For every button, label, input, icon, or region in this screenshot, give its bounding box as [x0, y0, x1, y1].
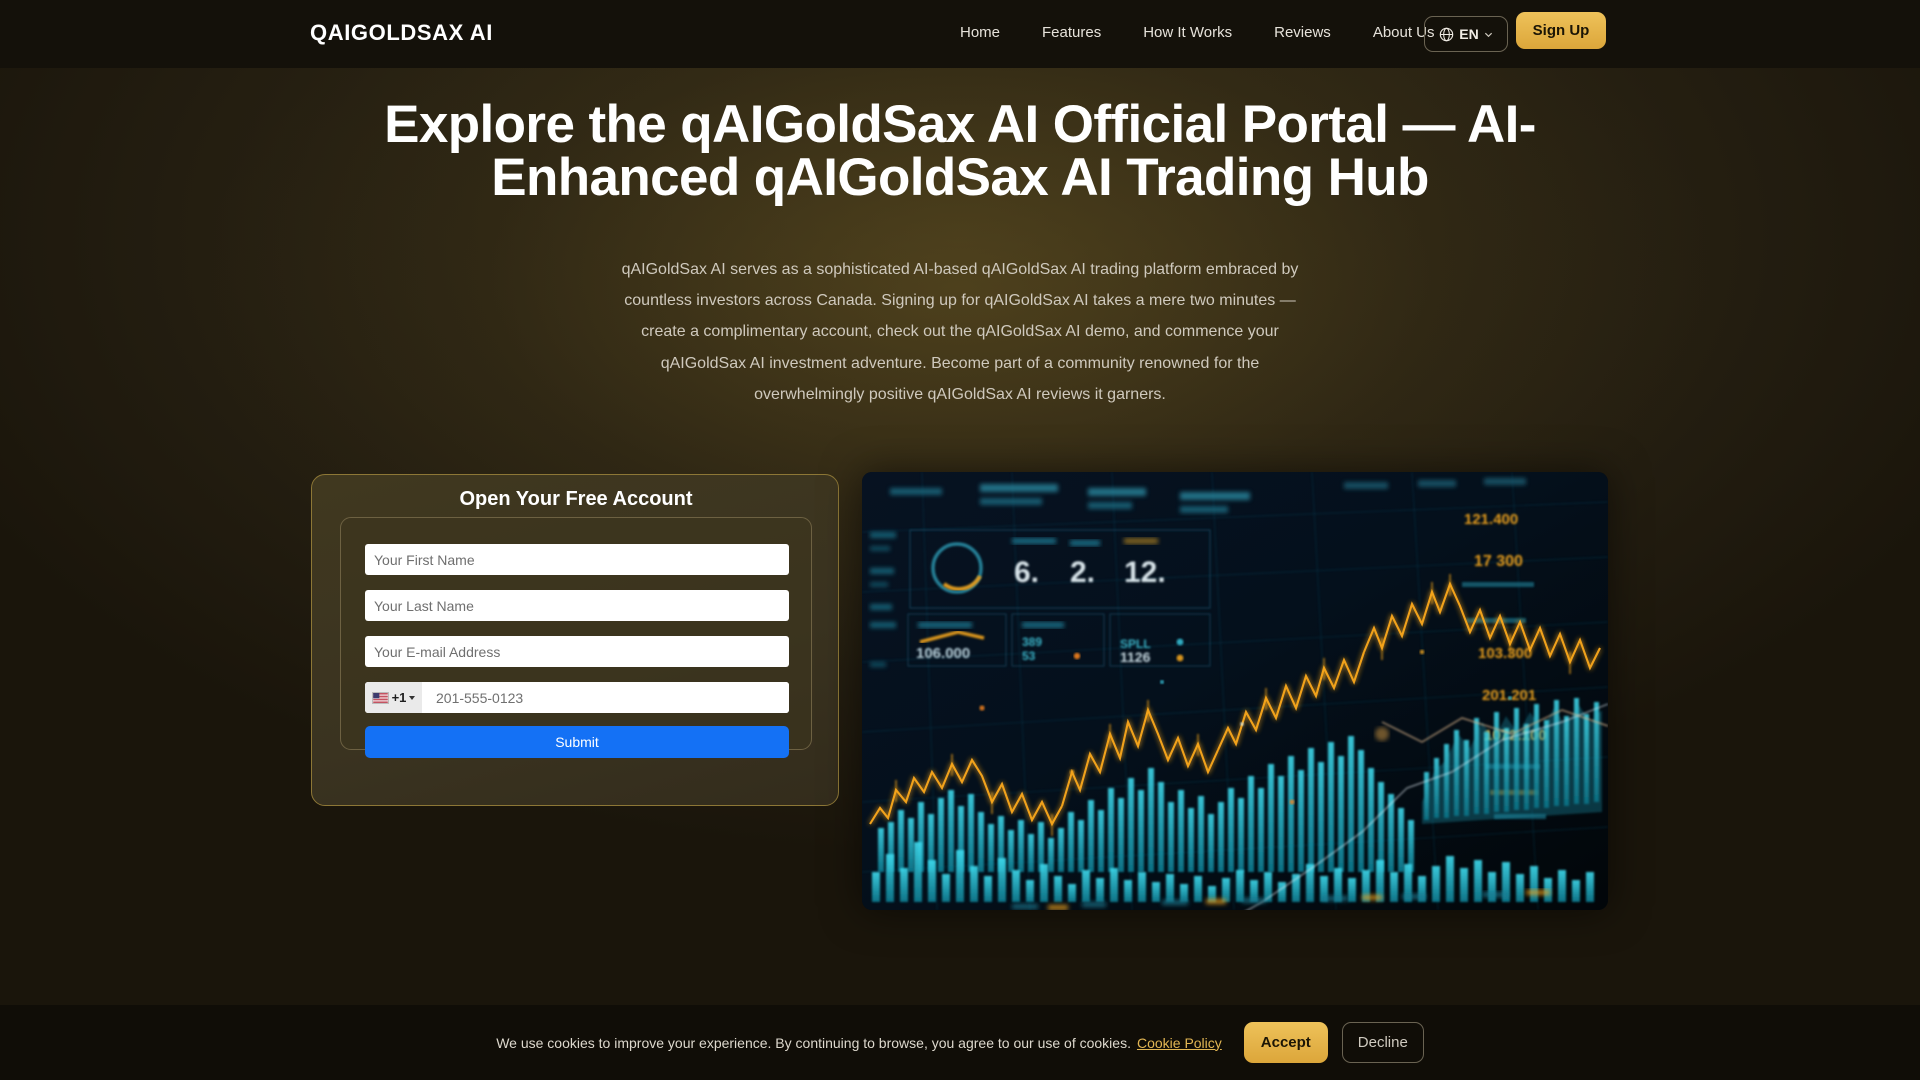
chevron-down-icon [1484, 30, 1493, 39]
cookie-banner: We use cookies to improve your experienc… [0, 1005, 1920, 1080]
phone-input-row: +1 [365, 682, 789, 713]
site-logo[interactable]: QAIGOLDSAX AI [310, 20, 493, 46]
language-value: EN [1459, 26, 1478, 42]
svg-text:121.400: 121.400 [1464, 511, 1518, 528]
main-navigation: Home Features How It Works Reviews About… [960, 24, 1435, 41]
last-name-input[interactable] [365, 590, 789, 621]
page-root: QAIGOLDSAX AI Home Features How It Works… [0, 0, 1920, 1080]
page-title: Explore the qAIGoldSax AI Official Porta… [330, 98, 1590, 204]
svg-text:201.201: 201.201 [1482, 687, 1536, 704]
nav-item-features[interactable]: Features [1042, 24, 1101, 41]
language-selector[interactable]: EN [1424, 16, 1508, 52]
caret-down-icon [409, 696, 415, 700]
cookie-policy-link[interactable]: Cookie Policy [1137, 1035, 1222, 1051]
svg-text:6.: 6. [1014, 556, 1039, 589]
form-inner-panel: +1 Submit [340, 517, 812, 750]
decline-cookies-button[interactable]: Decline [1342, 1022, 1424, 1063]
submit-button[interactable]: Submit [365, 726, 789, 758]
phone-input[interactable] [422, 682, 789, 713]
nav-item-reviews[interactable]: Reviews [1274, 24, 1331, 41]
email-input[interactable] [365, 636, 789, 667]
svg-text:389: 389 [1022, 635, 1042, 649]
trading-dashboard-graphic: 6. 2. 12. 106.000 389 5 [862, 472, 1608, 910]
svg-text:2.: 2. [1070, 556, 1095, 589]
hero-subtitle: qAIGoldSax AI serves as a sophisticated … [610, 254, 1310, 410]
svg-text:12.: 12. [1124, 556, 1166, 589]
first-name-input[interactable] [365, 544, 789, 575]
svg-text:53: 53 [1022, 649, 1036, 663]
svg-text:1126: 1126 [1120, 649, 1151, 665]
accept-cookies-button[interactable]: Accept [1244, 1022, 1328, 1063]
us-flag-icon [372, 692, 389, 704]
site-header: QAIGOLDSAX AI Home Features How It Works… [0, 0, 1920, 68]
nav-item-how-it-works[interactable]: How It Works [1143, 24, 1232, 41]
nav-item-home[interactable]: Home [960, 24, 1000, 41]
country-code-value: +1 [392, 690, 407, 705]
svg-text:17 300: 17 300 [1474, 553, 1523, 570]
trading-chart-image: 6. 2. 12. 106.000 389 5 [862, 472, 1608, 910]
hero-section: Explore the qAIGoldSax AI Official Porta… [0, 68, 1920, 1005]
globe-icon [1439, 27, 1454, 42]
svg-text:106.000: 106.000 [916, 645, 970, 662]
signup-form-card: Open Your Free Account [311, 474, 839, 806]
country-code-selector[interactable]: +1 [365, 682, 422, 713]
svg-text:103.300: 103.300 [1478, 645, 1532, 662]
signup-button[interactable]: Sign Up [1516, 12, 1606, 49]
cookie-message: We use cookies to improve your experienc… [496, 1035, 1131, 1051]
form-title: Open Your Free Account [312, 488, 840, 511]
